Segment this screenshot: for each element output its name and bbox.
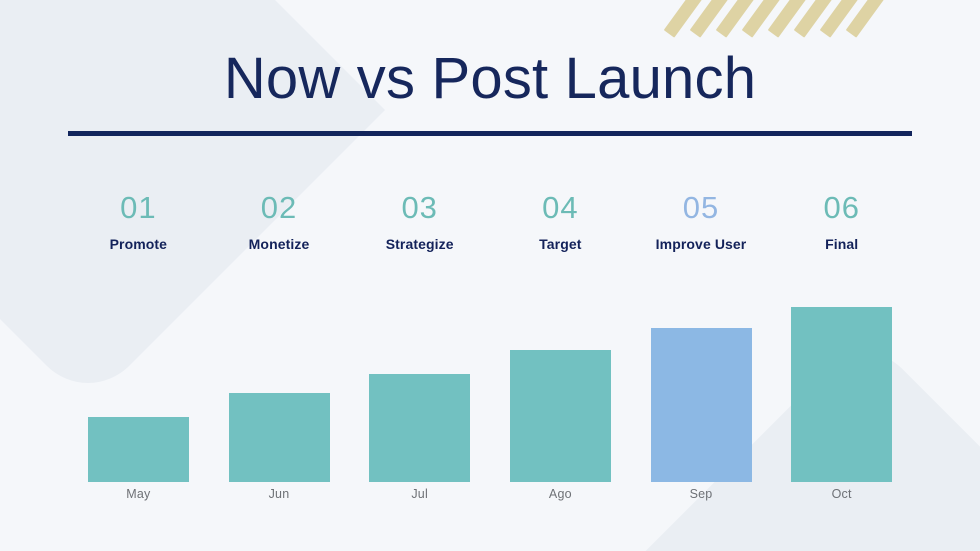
step-number: 02 (209, 190, 350, 226)
stripe-bar (846, 0, 900, 38)
stripe-bar (716, 0, 770, 38)
step-label: Promote (68, 236, 209, 252)
bar-tick-label: May (126, 488, 150, 501)
bar[interactable] (510, 350, 611, 482)
step-number: 06 (771, 190, 912, 226)
step-item-04[interactable]: 04Target (490, 190, 631, 252)
bar-column-oct[interactable]: Oct (791, 272, 892, 500)
bar-column-ago[interactable]: Ago (510, 272, 611, 500)
step-number: 04 (490, 190, 631, 226)
title-underline-rule (68, 131, 912, 136)
step-number: 01 (68, 190, 209, 226)
bar-tick-label: Jun (269, 488, 290, 501)
step-label: Target (490, 236, 631, 252)
stripe-bar (664, 0, 718, 38)
stripe-bar (794, 0, 848, 38)
step-item-02[interactable]: 02Monetize (209, 190, 350, 252)
bar-tick-label: Ago (549, 488, 572, 501)
step-item-03[interactable]: 03Strategize (349, 190, 490, 252)
bar[interactable] (651, 328, 752, 481)
bar-tick-label: Sep (690, 488, 713, 501)
page-title: Now vs Post Launch (0, 50, 980, 108)
bar-chart: MayJunJulAgoSepOct (68, 272, 912, 500)
step-label: Monetize (209, 236, 350, 252)
stripe-bar (768, 0, 822, 38)
bar-tick-label: Jul (411, 488, 428, 501)
step-item-05[interactable]: 05Improve User (631, 190, 772, 252)
step-item-01[interactable]: 01Promote (68, 190, 209, 252)
step-number: 05 (631, 190, 772, 226)
step-label: Strategize (349, 236, 490, 252)
step-item-06[interactable]: 06Final (771, 190, 912, 252)
step-number: 03 (349, 190, 490, 226)
slide-canvas: Now vs Post Launch 01Promote02Monetize03… (0, 0, 980, 551)
stripe-bar (820, 0, 874, 38)
step-label: Improve User (631, 236, 772, 252)
bar-column-may[interactable]: May (88, 272, 189, 500)
stripe-bar (690, 0, 744, 38)
bar[interactable] (369, 374, 470, 482)
bar[interactable] (88, 417, 189, 482)
step-label: Final (771, 236, 912, 252)
bar[interactable] (229, 393, 330, 481)
step-list: 01Promote02Monetize03Strategize04Target0… (68, 190, 912, 252)
bar-tick-label: Oct (832, 488, 852, 501)
bar-column-jul[interactable]: Jul (369, 272, 470, 500)
stripe-bar (742, 0, 796, 38)
bar[interactable] (791, 307, 892, 482)
bar-column-sep[interactable]: Sep (651, 272, 752, 500)
bar-column-jun[interactable]: Jun (229, 272, 330, 500)
